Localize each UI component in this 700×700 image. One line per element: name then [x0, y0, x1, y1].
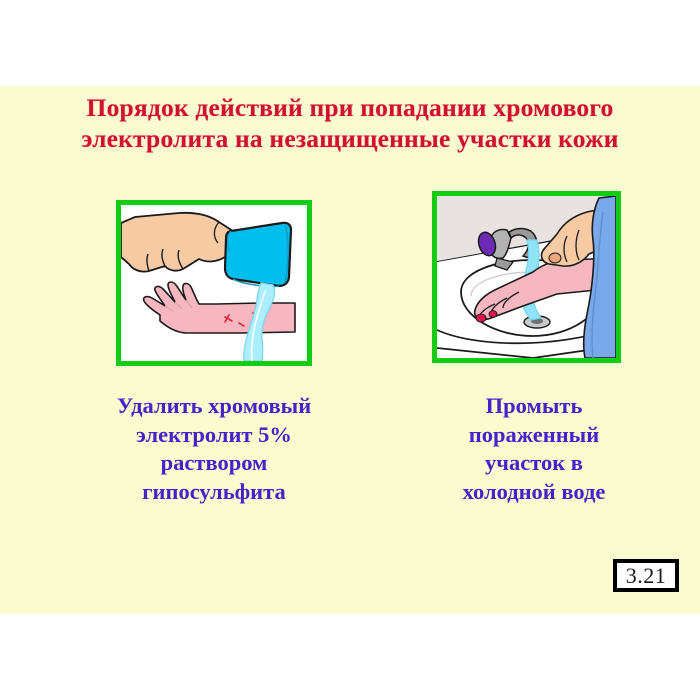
pouring-solution-onto-arm-illustration	[121, 205, 307, 361]
caption-left: Удалить хромовый электролит 5% раствором…	[36, 392, 392, 506]
caption-right: Промыть пораженный участок в холодной во…	[398, 392, 670, 506]
blue-cup-shape	[225, 223, 291, 287]
page-title-line-1: Порядок действий при попадании хромового	[0, 92, 700, 123]
washing-hands-under-faucet-illustration	[437, 196, 616, 358]
page-number-label: 3.21	[626, 563, 667, 589]
page-number-box: 3.21	[613, 559, 679, 592]
page-title: Порядок действий при попадании хромового…	[0, 92, 700, 154]
page-title-line-2: электролита на незащищенные участки кожи	[0, 123, 700, 154]
slide-canvas: Порядок действий при попадании хромового…	[0, 86, 700, 614]
illustration-frame-right	[432, 191, 621, 363]
illustration-frame-left	[116, 200, 312, 366]
